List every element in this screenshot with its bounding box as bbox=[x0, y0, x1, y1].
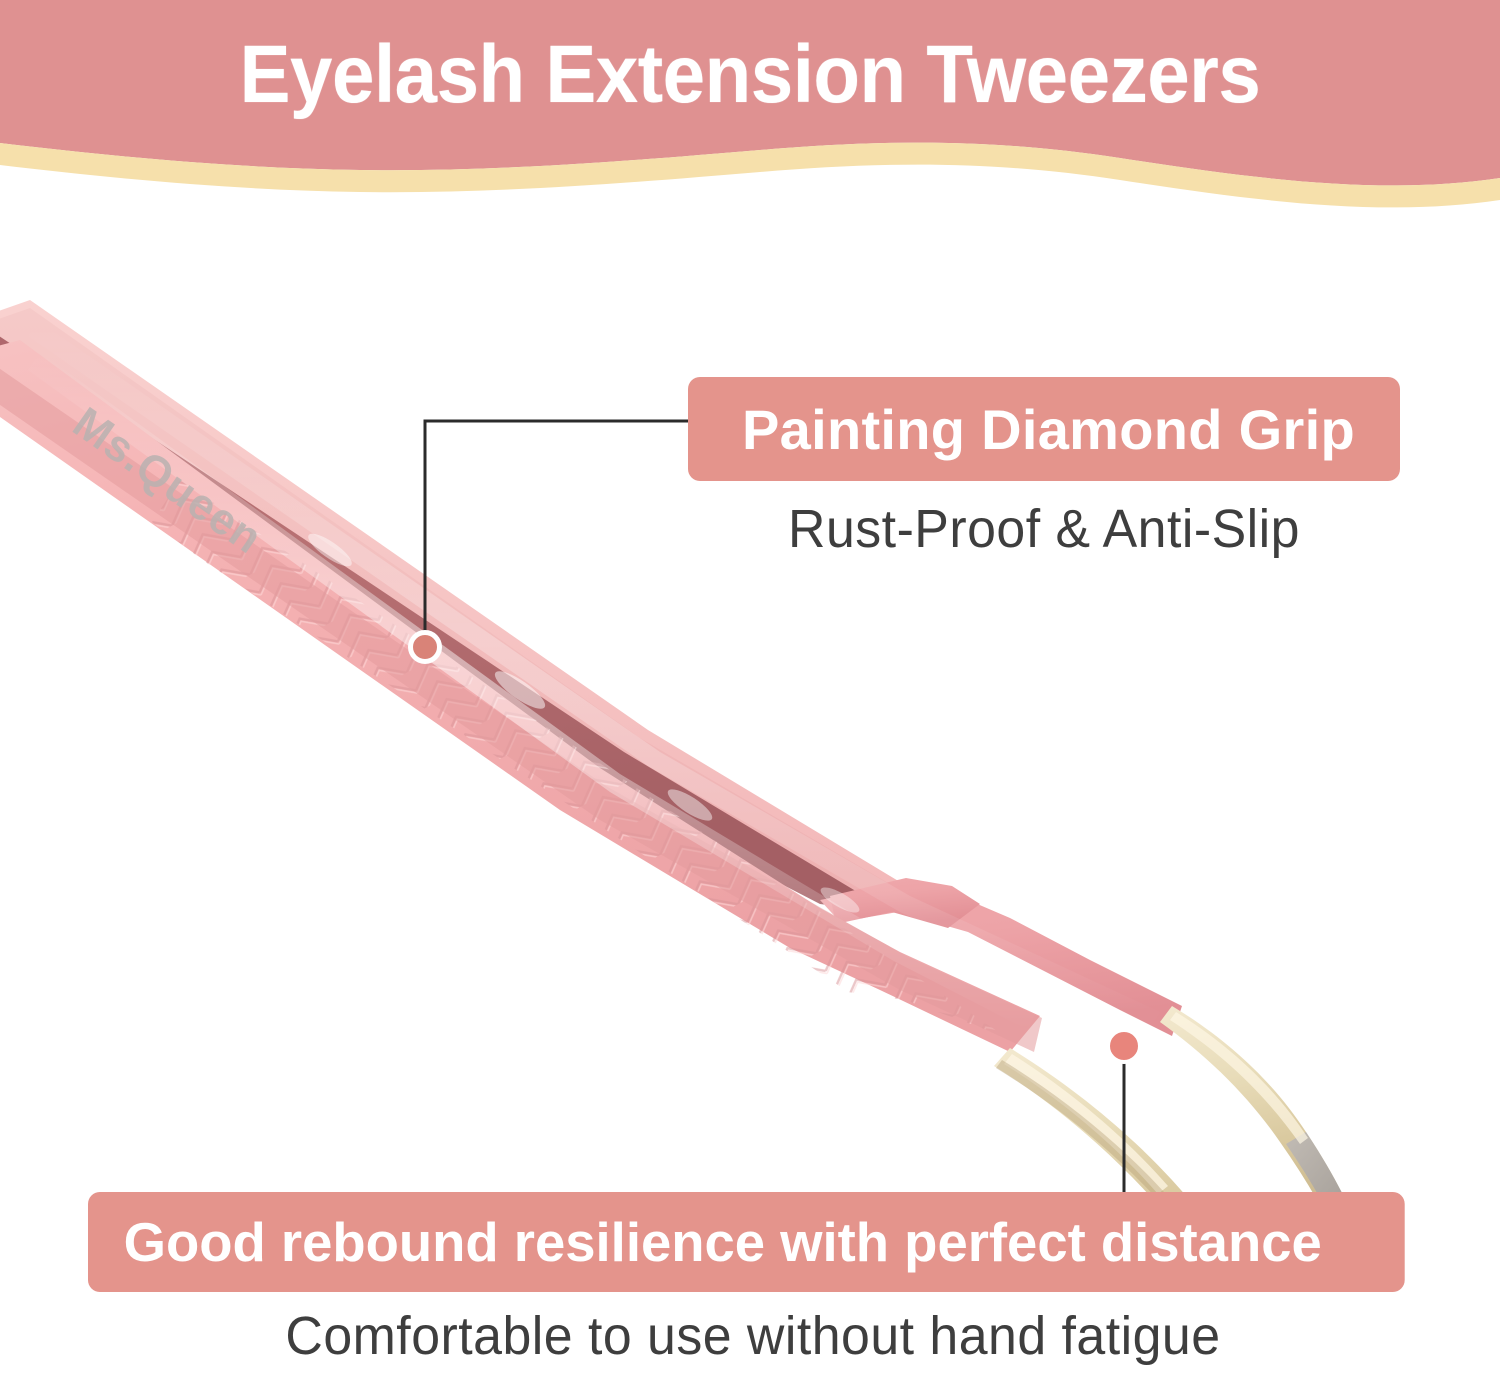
tweezer-upper-tip bbox=[1160, 1006, 1362, 1200]
callout-pill-grip: Painting Diamond Grip bbox=[688, 377, 1400, 481]
lower-tip-seam bbox=[996, 1060, 1164, 1200]
callout-subtitle-rebound: Comfortable to use without hand fatigue bbox=[115, 1305, 1392, 1367]
upper-tip-gold bbox=[1160, 1006, 1362, 1200]
callout-marker-grip-icon bbox=[408, 630, 442, 664]
callout-subtitle-grip: Rust-Proof & Anti-Slip bbox=[702, 498, 1386, 560]
page-title: Eyelash Extension Tweezers bbox=[53, 27, 1448, 123]
product-infographic: Eyelash Extension Tweezers bbox=[0, 0, 1500, 1379]
callout-pill-rebound: Good rebound resilience with perfect dis… bbox=[88, 1192, 1405, 1292]
callout-marker-rebound-icon bbox=[1106, 1028, 1142, 1064]
header-banner: Eyelash Extension Tweezers bbox=[0, 0, 1500, 210]
